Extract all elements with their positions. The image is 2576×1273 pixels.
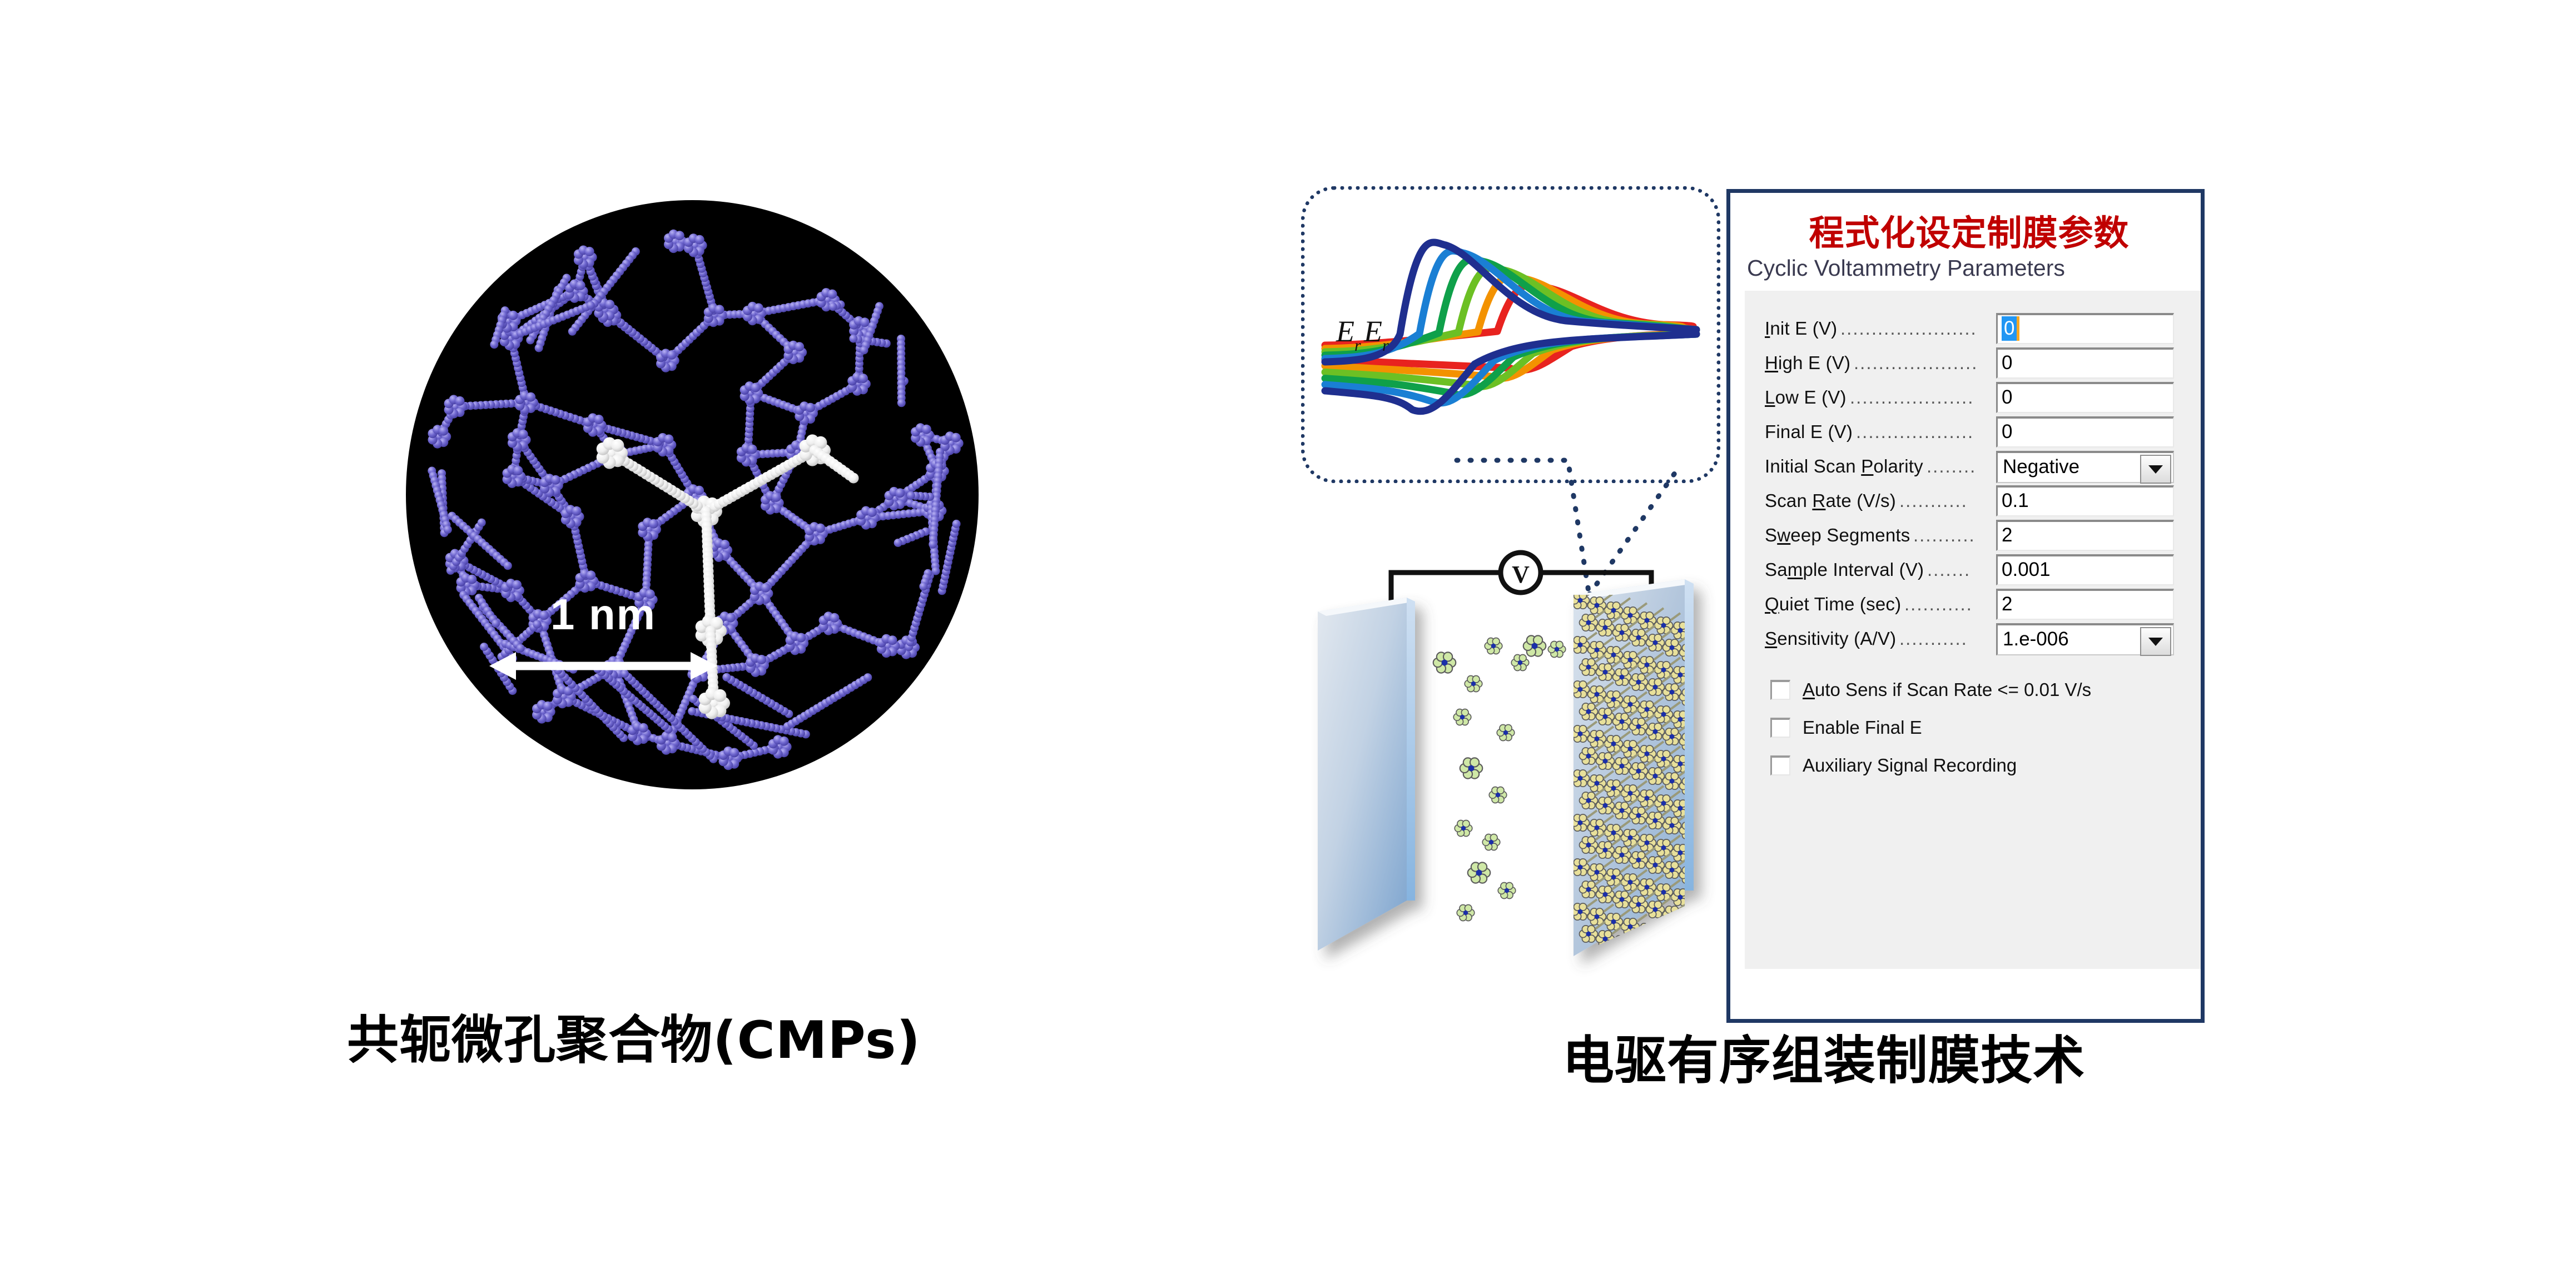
monomer-unit — [1596, 708, 1615, 725]
param-value: 0 — [2002, 316, 2017, 341]
monomer-unit — [1489, 787, 1507, 803]
monomer-unit — [1630, 629, 1648, 646]
monomer-unit — [1663, 862, 1681, 878]
dialog-subtitle: Cyclic Voltammetry Parameters — [1747, 255, 2065, 281]
param-dot-leader: ........... — [1904, 594, 1973, 615]
monomer-unit — [1663, 817, 1681, 834]
param-value: 0.001 — [2002, 559, 2051, 581]
param-dot-leader: ........ — [1927, 456, 1976, 477]
monomer-unit — [1497, 725, 1515, 741]
monomer-unit — [1580, 614, 1598, 631]
checkbox-label: Enable Final E — [1803, 717, 1922, 738]
param-dot-leader: .................... — [1850, 387, 1974, 408]
monomer-unit — [1571, 636, 1590, 653]
monomer-unit — [1596, 753, 1615, 769]
param-value: 0 — [2002, 421, 2012, 443]
monomer-unit — [1630, 718, 1648, 735]
scale-bar: 1 nm — [484, 589, 723, 695]
monomer-unit — [1571, 859, 1590, 876]
monomer-unit — [1613, 936, 1631, 952]
param-input[interactable]: 0 — [1996, 416, 2174, 447]
param-dot-leader: ........... — [1899, 490, 1968, 511]
checkbox-row[interactable]: Auxiliary Signal Recording — [1745, 750, 2205, 784]
monomer-unit — [1455, 821, 1472, 837]
monomer-unit — [1621, 918, 1640, 935]
monomer-unit — [1630, 896, 1648, 913]
monomer-unit — [1548, 642, 1566, 658]
scale-bar-arrow — [489, 648, 717, 684]
monomer-unit — [1433, 652, 1456, 673]
cmp-structure-figure: 1 nm — [406, 200, 979, 789]
param-label: Sweep Segments — [1765, 525, 1910, 546]
monomer-unit — [1663, 639, 1681, 656]
monomer-unit — [1646, 768, 1665, 784]
param-label: Init E (V) — [1765, 318, 1837, 339]
param-label: Quiet Time (sec) — [1765, 594, 1901, 615]
monomer-unit — [1613, 847, 1631, 863]
cmp-caption: 共轭微孔聚合物(CMPs) — [239, 998, 1029, 1073]
monomer-unit — [1663, 906, 1681, 923]
voltmeter: V — [1501, 553, 1541, 593]
param-input[interactable]: 0 — [1996, 313, 2174, 344]
monomer-unit — [1580, 881, 1598, 898]
checkbox-row[interactable]: Auto Sens if Scan Rate <= 0.01 V/s — [1745, 674, 2205, 709]
checkbox-row[interactable]: Enable Final E — [1745, 712, 2205, 747]
monomer-unit — [1671, 933, 1690, 950]
scale-bar-label: 1 nm — [484, 589, 723, 640]
param-row: Sweep Segments..........2 — [1745, 520, 2205, 554]
checkbox[interactable] — [1770, 718, 1790, 738]
param-row: Sensitivity (A/V)...........1.e-006 — [1745, 623, 2205, 658]
cv-axis-label-2-sub: r — [1382, 336, 1389, 355]
left-electrode — [1318, 598, 1415, 951]
monomer-unit — [1571, 814, 1590, 831]
monomer-unit — [1630, 807, 1648, 824]
chevron-down-icon[interactable] — [2140, 455, 2171, 484]
param-dot-leader: ........... — [1899, 628, 1968, 649]
param-input[interactable]: 0 — [1996, 382, 2174, 413]
param-label: Sample Interval (V) — [1765, 559, 1924, 580]
monomer-unit — [1596, 797, 1615, 814]
param-row: Init E (V)......................0 — [1745, 313, 2205, 347]
monomer-unit — [1571, 681, 1590, 698]
cv-axis-label-2: E — [1363, 315, 1382, 348]
monomer-unit — [1580, 659, 1598, 675]
param-label: Scan Rate (V/s) — [1765, 490, 1896, 511]
monomer-unit — [1613, 713, 1631, 730]
monomer-unit — [1453, 709, 1471, 725]
param-value: 2 — [2002, 593, 2012, 615]
param-label: Final E (V) — [1765, 421, 1853, 442]
monomer-unit — [1580, 792, 1598, 809]
monomer-unit — [1663, 773, 1681, 789]
cmp-circle: 1 nm — [406, 200, 979, 789]
monomer-unit — [1485, 638, 1502, 654]
checkbox[interactable] — [1770, 755, 1790, 775]
monomer-unit — [1511, 655, 1529, 671]
monomer-unit — [1596, 842, 1615, 858]
cv-axis-label: E — [1336, 315, 1354, 348]
param-value: Negative — [2003, 456, 2079, 478]
monomer-unit — [1498, 883, 1516, 899]
param-dot-leader: .......... — [1913, 525, 1976, 546]
monomer-unit — [1663, 728, 1681, 745]
monomer-unit — [1613, 891, 1631, 908]
monomer-unit — [1646, 857, 1665, 873]
monomer-unit — [1613, 758, 1631, 774]
monomer-unit — [1680, 911, 1698, 928]
cmp-panel: 1 nm 共轭微孔聚合物(CMPs) — [0, 0, 1240, 1273]
param-value: 0 — [2002, 386, 2012, 409]
param-label: High E (V) — [1765, 352, 1850, 374]
monomer-unit — [1646, 723, 1665, 740]
checkbox-label: Auto Sens if Scan Rate <= 0.01 V/s — [1803, 679, 2091, 700]
param-dot-leader: ...................... — [1840, 318, 1977, 339]
param-row: High E (V)....................0 — [1745, 347, 2205, 382]
cv-axis-label-sub: r — [1354, 336, 1361, 355]
param-input[interactable]: 0.1 — [1996, 485, 2174, 516]
monomer-unit — [1460, 758, 1483, 778]
film-tech-panel: E r E r — [1240, 0, 2576, 1273]
param-row: Sample Interval (V).......0.001 — [1745, 554, 2205, 589]
monomer-unit — [1630, 852, 1648, 868]
monomer-unit — [1646, 946, 1665, 962]
cv-curves-graphic: E r E r — [1313, 198, 1708, 470]
monomer-molecules — [1433, 635, 1566, 921]
cv-curve-bubble: E r E r — [1301, 186, 1720, 483]
cmp-network-graphic — [406, 200, 979, 789]
param-dot-leader: ....... — [1927, 559, 1971, 580]
param-input[interactable]: 0 — [1996, 347, 2174, 379]
monomer-unit — [1580, 748, 1598, 764]
monomer-unit — [1613, 624, 1631, 641]
param-input[interactable]: 2 — [1996, 589, 2174, 620]
monomer-unit — [1630, 941, 1648, 957]
param-combo[interactable]: Negative — [1996, 451, 2174, 483]
checkbox-label: Auxiliary Signal Recording — [1803, 755, 2017, 776]
monomer-unit — [1580, 837, 1598, 853]
param-label: Low E (V) — [1765, 387, 1847, 408]
monomer-unit — [1663, 684, 1681, 700]
monomer-unit — [1571, 725, 1590, 742]
monomer-unit — [1671, 889, 1690, 906]
monomer-unit — [1580, 703, 1598, 720]
param-combo[interactable]: 1.e-006 — [1996, 623, 2174, 655]
monomer-unit — [1571, 770, 1590, 787]
monomer-unit — [1457, 905, 1475, 921]
param-input[interactable]: 0.001 — [1996, 554, 2174, 585]
param-dot-leader: .................... — [1854, 352, 1978, 374]
param-value: 0.1 — [2002, 490, 2029, 512]
monomer-unit — [1465, 676, 1482, 692]
electrochemical-cell-diagram: V — [1296, 517, 1796, 1017]
monomer-unit — [1596, 619, 1615, 636]
monomer-unit — [1613, 669, 1631, 685]
monomer-unit — [1638, 923, 1656, 940]
monomer-unit — [1646, 634, 1665, 651]
monomer-unit — [1580, 926, 1598, 942]
monomer-unit — [1596, 931, 1615, 947]
monomer-unit — [1630, 763, 1648, 779]
dialog-title: 程式化设定制膜参数 — [1743, 205, 2196, 256]
param-row: Quiet Time (sec)...........2 — [1745, 589, 2205, 623]
param-dot-leader: ................... — [1856, 421, 1974, 442]
monomer-unit — [1523, 635, 1546, 656]
monomer-unit — [1596, 886, 1615, 903]
monomer-unit — [1571, 903, 1590, 920]
monomer-unit — [1646, 679, 1665, 695]
monomer-unit — [1655, 928, 1673, 945]
cv-parameters-dialog: 程式化设定制膜参数 Cyclic Voltammetry Parameters … — [1726, 189, 2205, 1023]
param-row: Final E (V)...................0 — [1745, 416, 2205, 451]
monomer-unit — [1630, 674, 1648, 690]
param-value: 2 — [2002, 524, 2012, 546]
parameters-panel: Init E (V)......................0High E … — [1745, 291, 2205, 969]
param-label: Initial Scan Polarity — [1765, 456, 1923, 477]
param-label: Sensitivity (A/V) — [1765, 628, 1896, 649]
monomer-unit — [1596, 664, 1615, 680]
param-row: Scan Rate (V/s)...........0.1 — [1745, 485, 2205, 520]
param-row: Low E (V)....................0 — [1745, 382, 2205, 416]
param-row: Initial Scan Polarity........Negative — [1745, 451, 2205, 485]
monomer-unit — [1646, 901, 1665, 918]
chevron-down-icon[interactable] — [2140, 627, 2171, 656]
param-input[interactable]: 2 — [1996, 520, 2174, 551]
monomer-unit — [1482, 834, 1500, 851]
monomer-unit — [1613, 802, 1631, 819]
checkbox[interactable] — [1770, 680, 1790, 700]
param-value: 1.e-006 — [2003, 628, 2069, 650]
monomer-unit — [1646, 812, 1665, 829]
param-value: 0 — [2002, 352, 2012, 374]
voltmeter-label: V — [1512, 561, 1530, 588]
monomer-unit — [1468, 862, 1491, 883]
film-tech-caption: 电驱有序组装制膜技术 — [1462, 1018, 2185, 1093]
